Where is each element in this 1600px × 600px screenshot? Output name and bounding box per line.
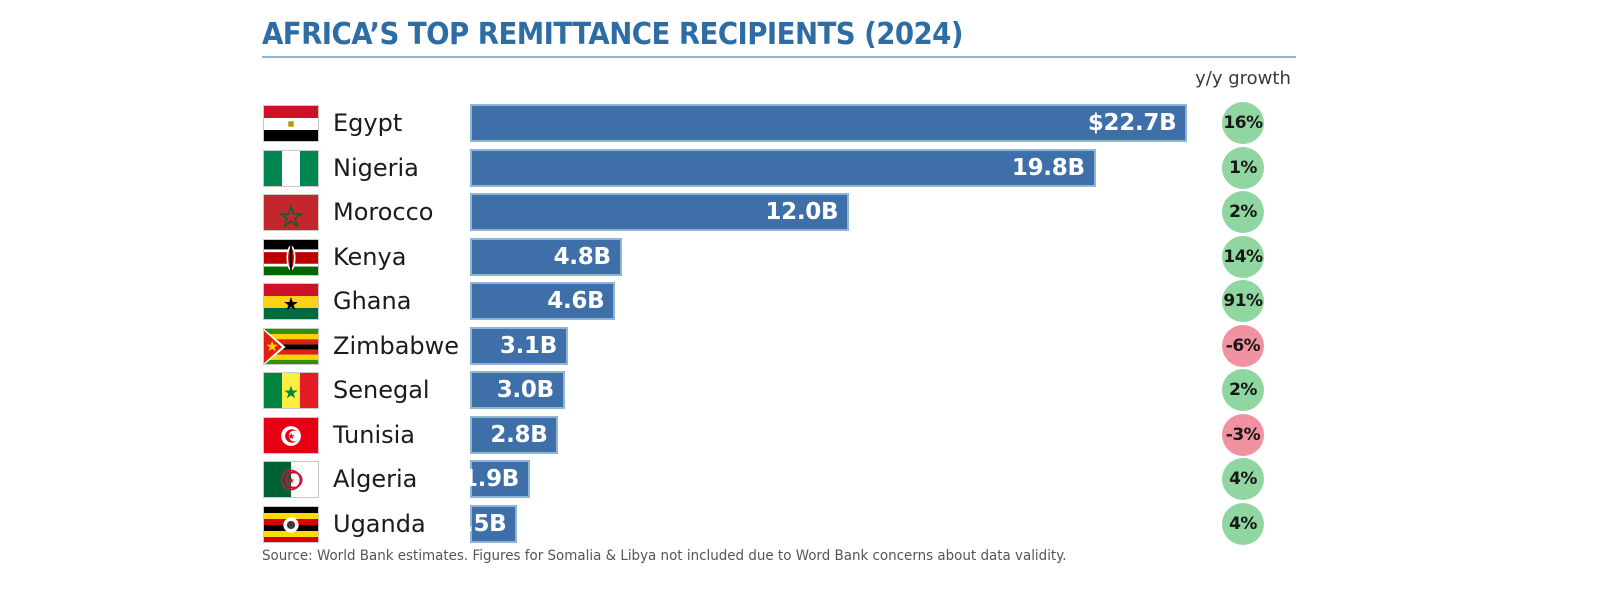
chart-root: AFRICA’S TOP REMITTANCE RECIPIENTS (2024…: [0, 0, 1600, 600]
flag-nigeria-icon: [263, 150, 319, 187]
flag-morocco-icon: [263, 194, 319, 231]
flag-tunisia-icon: [263, 417, 319, 454]
country-label: Senegal: [333, 368, 430, 413]
table-row: Senegal3.0B2%: [0, 368, 1600, 413]
title-block: AFRICA’S TOP REMITTANCE RECIPIENTS (2024…: [262, 18, 1296, 58]
growth-cell: -6%: [1188, 324, 1298, 369]
growth-badge: 1%: [1222, 147, 1264, 189]
bar-value-label: 1.5B: [449, 511, 515, 537]
bar-track: 12.0B: [470, 193, 849, 231]
page-title: AFRICA’S TOP REMITTANCE RECIPIENTS (2024…: [262, 18, 1213, 52]
value-bar: 3.1B: [470, 327, 568, 365]
growth-cell: 16%: [1188, 101, 1298, 146]
bar-track: 1.5B: [470, 505, 517, 543]
country-label: Uganda: [333, 502, 426, 547]
bar-value-label: 3.0B: [497, 377, 563, 403]
bar-value-label: 3.1B: [500, 333, 566, 359]
growth-badge: 91%: [1222, 280, 1264, 322]
bar-track: 2.8B: [470, 416, 558, 454]
bar-value-label: 12.0B: [765, 199, 847, 225]
growth-badge: 16%: [1222, 102, 1264, 144]
growth-badge: -3%: [1222, 414, 1264, 456]
flag-egypt-icon: [263, 105, 319, 142]
country-label: Zimbabwe: [333, 324, 459, 369]
bar-value-label: 4.8B: [554, 244, 620, 270]
growth-badge: 2%: [1222, 191, 1264, 233]
growth-cell: 14%: [1188, 235, 1298, 280]
growth-column-header: y/y growth: [1188, 68, 1298, 89]
title-divider: [262, 56, 1296, 58]
growth-badge: 2%: [1222, 369, 1264, 411]
country-label: Nigeria: [333, 146, 419, 191]
value-bar: 12.0B: [470, 193, 849, 231]
flag-uganda-icon: [263, 506, 319, 543]
bar-track: 19.8B: [470, 149, 1096, 187]
value-bar: 4.8B: [470, 238, 622, 276]
bar-value-label: $22.7B: [1088, 110, 1185, 136]
value-bar: 4.6B: [470, 282, 615, 320]
flag-algeria-icon: [263, 461, 319, 498]
country-label: Tunisia: [333, 413, 415, 458]
bar-track: 4.8B: [470, 238, 622, 276]
bar-track: 3.0B: [470, 371, 565, 409]
bar-track: $22.7B: [470, 104, 1187, 142]
bar-track: 4.6B: [470, 282, 615, 320]
growth-badge: -6%: [1222, 325, 1264, 367]
bar-value-label: 19.8B: [1012, 155, 1094, 181]
growth-cell: 4%: [1188, 502, 1298, 547]
value-bar: 19.8B: [470, 149, 1096, 187]
country-label: Egypt: [333, 101, 402, 146]
growth-cell: 91%: [1188, 279, 1298, 324]
country-label: Ghana: [333, 279, 411, 324]
source-note: Source: World Bank estimates. Figures fo…: [262, 548, 1067, 564]
value-bar: 2.8B: [470, 416, 558, 454]
growth-cell: 2%: [1188, 190, 1298, 235]
bar-track: 3.1B: [470, 327, 568, 365]
table-row: Algeria1.9B4%: [0, 457, 1600, 502]
value-bar: $22.7B: [470, 104, 1187, 142]
growth-badge: 4%: [1222, 503, 1264, 545]
table-row: Nigeria19.8B1%: [0, 146, 1600, 191]
value-bar: 1.9B: [470, 460, 530, 498]
growth-cell: -3%: [1188, 413, 1298, 458]
country-label: Algeria: [333, 457, 417, 502]
country-label: Kenya: [333, 235, 406, 280]
table-row: Tunisia2.8B-3%: [0, 413, 1600, 458]
bar-value-label: 1.9B: [462, 466, 528, 492]
growth-cell: 1%: [1188, 146, 1298, 191]
growth-badge: 14%: [1222, 236, 1264, 278]
growth-cell: 2%: [1188, 368, 1298, 413]
growth-badge: 4%: [1222, 458, 1264, 500]
table-row: Zimbabwe3.1B-6%: [0, 324, 1600, 369]
country-label: Morocco: [333, 190, 434, 235]
flag-ghana-icon: [263, 283, 319, 320]
bar-value-label: 2.8B: [490, 422, 556, 448]
table-row: Uganda1.5B4%: [0, 502, 1600, 547]
flag-kenya-icon: [263, 239, 319, 276]
bar-track: 1.9B: [470, 460, 530, 498]
table-row: Morocco12.0B2%: [0, 190, 1600, 235]
chart-rows: Egypt$22.7B16%Nigeria19.8B1%Morocco12.0B…: [0, 101, 1600, 546]
growth-cell: 4%: [1188, 457, 1298, 502]
flag-senegal-icon: [263, 372, 319, 409]
table-row: Egypt$22.7B16%: [0, 101, 1600, 146]
flag-zimbabwe-icon: [263, 328, 319, 365]
table-row: Kenya4.8B14%: [0, 235, 1600, 280]
value-bar: 3.0B: [470, 371, 565, 409]
bar-value-label: 4.6B: [547, 288, 613, 314]
table-row: Ghana4.6B91%: [0, 279, 1600, 324]
value-bar: 1.5B: [470, 505, 517, 543]
